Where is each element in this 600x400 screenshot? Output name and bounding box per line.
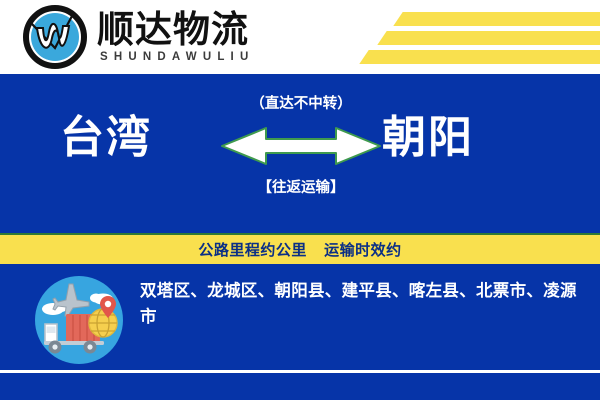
distance-duration-band: 公路里程约公里 运输时效约 xyxy=(0,233,600,264)
route-note-direct: （直达不中转） xyxy=(212,92,390,113)
shunda-circle-logo-icon xyxy=(22,4,88,70)
logistics-route-banner: 顺达物流 SHUNDAWULIU 台湾 （直达不中转） 【往返运输】 朝阳 xyxy=(0,0,600,400)
header-stripe-2 xyxy=(377,31,600,45)
brand-name-cn: 顺达物流 xyxy=(97,11,254,49)
brand-name-en: SHUNDAWULIU xyxy=(100,51,254,63)
header-stripe-1 xyxy=(393,12,600,26)
header-stripe-3 xyxy=(359,50,600,64)
route-note-roundtrip: 【往返运输】 xyxy=(212,176,390,197)
truck-globe-airplane-icon xyxy=(33,274,125,366)
banner-body: 台湾 （直达不中转） 【往返运输】 朝阳 公路里程约公里 运输时效约 xyxy=(0,74,600,400)
route-row: 台湾 （直达不中转） 【往返运输】 朝阳 xyxy=(0,74,600,234)
distance-duration-text: 公路里程约公里 运输时效约 xyxy=(198,239,401,260)
banner-header: 顺达物流 SHUNDAWULIU xyxy=(0,0,600,74)
coverage-row: 双塔区、龙城区、朝阳县、建平县、喀左县、北票市、凌源市 xyxy=(0,264,600,370)
double-arrow-icon xyxy=(220,124,382,168)
brand-logo-block: 顺达物流 SHUNDAWULIU xyxy=(22,4,254,70)
route-origin-city: 台湾 xyxy=(60,116,152,160)
coverage-areas-text: 双塔区、龙城区、朝阳县、建平县、喀左县、北票市、凌源市 xyxy=(140,278,588,329)
route-destination-city: 朝阳 xyxy=(382,116,474,160)
route-middle-block: （直达不中转） 【往返运输】 xyxy=(212,92,390,222)
brand-wordmark: 顺达物流 SHUNDAWULIU xyxy=(97,11,254,63)
footer-strip xyxy=(0,373,600,400)
